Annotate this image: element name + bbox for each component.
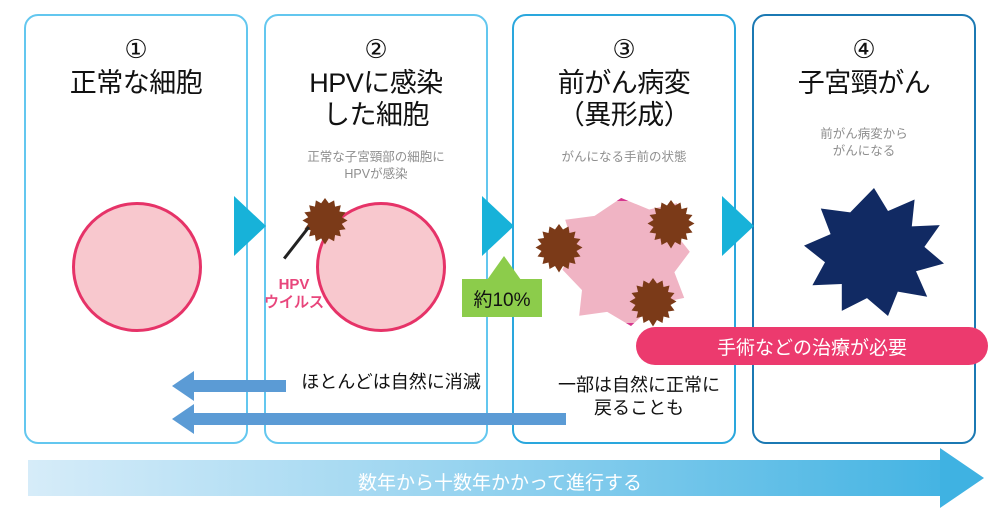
panel-subtitle: 正常な子宮頸部の細胞に HPVが感染 — [266, 149, 486, 183]
panel-number: ④ — [754, 36, 974, 62]
diagram-canvas: ① 正常な細胞 ② HPVに感染 した細胞 正常な子宮頸部の細胞に HPVが感染… — [0, 0, 1000, 520]
hpv-virus-label: HPV ウイルス — [262, 276, 326, 312]
panel-number: ② — [266, 36, 486, 62]
regression-minor-label: 一部は自然に正常に 戻ることも — [534, 374, 744, 419]
step-arrow-1-to-2 — [234, 196, 266, 256]
panel-title: HPVに感染 した細胞 — [266, 68, 486, 132]
panel-number: ① — [26, 36, 246, 62]
panel-title: 前がん病変 （異形成） — [514, 68, 734, 132]
normal-cell-icon — [72, 202, 202, 332]
regression-arrow-head — [172, 404, 194, 434]
step-arrow-3-to-4 — [722, 196, 754, 256]
panel-subtitle: 前がん病変から がんになる — [754, 126, 974, 160]
regression-arrow-head — [172, 371, 194, 401]
progression-rate-pointer — [487, 256, 521, 280]
panel-title: 正常な細胞 — [26, 68, 246, 100]
progression-rate-badge: 約10% — [462, 279, 542, 317]
panel-cervical-cancer[interactable]: ④ 子宮頸がん 前がん病変から がんになる — [752, 14, 976, 444]
panel-number: ③ — [514, 36, 734, 62]
panel-title: 子宮頸がん — [754, 68, 974, 100]
regression-arrow-shaft — [194, 413, 566, 425]
step-arrow-2-to-3 — [482, 196, 514, 256]
panel-subtitle: がんになる手前の状態 — [514, 149, 734, 166]
regression-major-label: ほとんどは自然に消滅 — [288, 371, 494, 394]
cancer-star-icon — [804, 188, 944, 316]
treatment-required-banner: 手術などの治療が必要 — [636, 327, 988, 365]
timeline-label: 数年から十数年かかって進行する — [0, 468, 1000, 495]
regression-arrow-shaft — [194, 380, 286, 392]
